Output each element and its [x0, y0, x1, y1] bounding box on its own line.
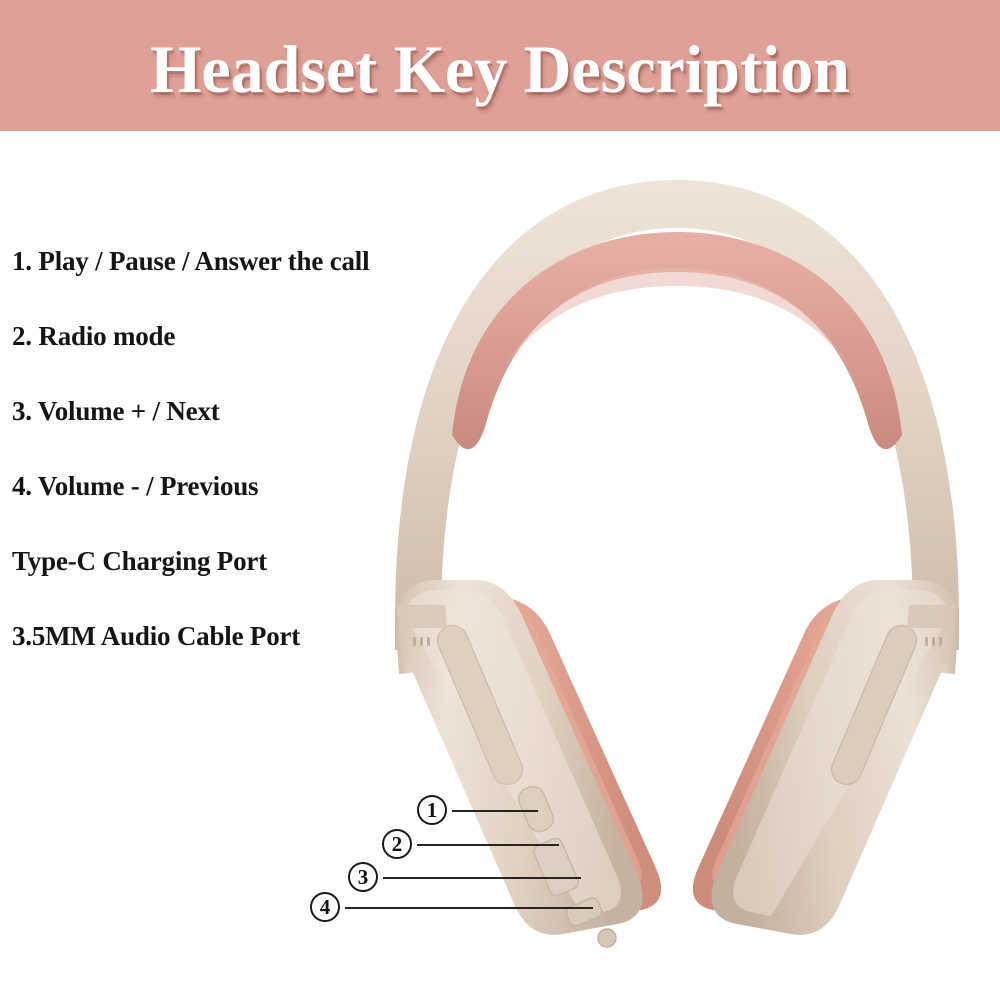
- page-title: Headset Key Description: [15, 0, 985, 131]
- callout-number-1[interactable]: 1: [417, 795, 447, 825]
- callout-number-2[interactable]: 2: [382, 829, 412, 859]
- header-banner: Headset Key Description: [0, 0, 1000, 131]
- callout-number-4[interactable]: 4: [310, 892, 340, 922]
- headset-svg: [355, 150, 1000, 950]
- audio-cable-port: [598, 929, 616, 947]
- right-earcup: [711, 580, 955, 935]
- callout-leader-line-4: [345, 907, 593, 909]
- headset-key-description-page: Headset Key Description 1. Play / Pause …: [0, 0, 1000, 1000]
- headset-illustration: [355, 150, 1000, 950]
- callout-leader-line-3: [383, 877, 581, 879]
- callout-leader-line-1: [452, 810, 538, 812]
- callout-leader-line-2: [417, 844, 559, 846]
- callout-number-3[interactable]: 3: [348, 862, 378, 892]
